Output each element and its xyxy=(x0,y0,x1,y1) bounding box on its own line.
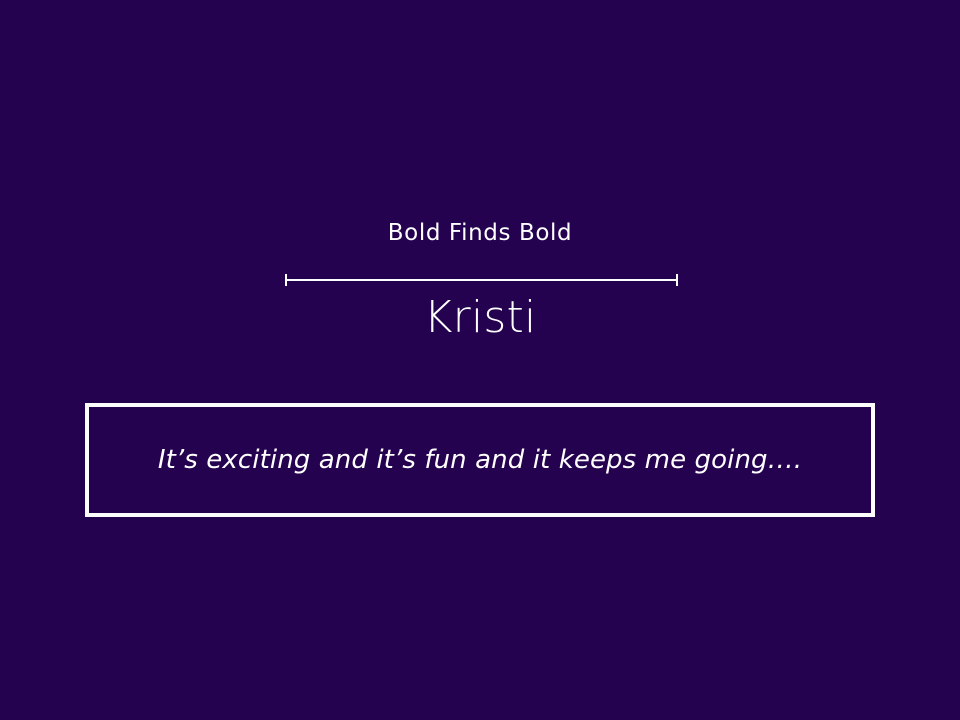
section-title-block: Bold Finds Bold xyxy=(0,218,960,248)
divider-line xyxy=(285,279,678,281)
name-block: Kristi xyxy=(0,291,960,345)
quote-text: It’s exciting and it’s fun and it keeps … xyxy=(130,443,830,477)
section-title: Bold Finds Bold xyxy=(0,218,960,248)
quote-box: It’s exciting and it’s fun and it keeps … xyxy=(85,403,875,517)
divider xyxy=(285,274,678,286)
person-name: Kristi xyxy=(0,291,960,345)
quote-slide: Bold Finds Bold Kristi It’s exciting and… xyxy=(0,0,960,720)
divider-cap-right-icon xyxy=(676,274,678,286)
